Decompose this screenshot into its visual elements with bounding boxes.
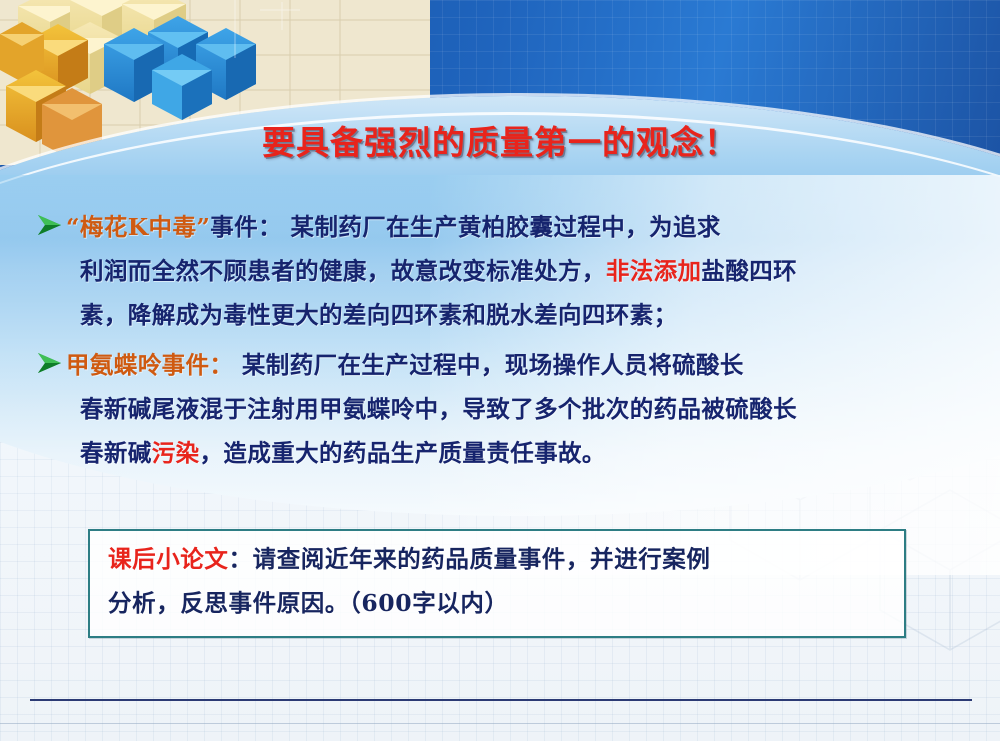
bullet-1-line-2-part-3: 盐酸四环: [701, 257, 797, 285]
bullet-item-1: “梅花K中毒”事件： 某制药厂在生产黄柏胶囊过程中，为追求 利润而全然不顾患者的…: [0, 205, 1000, 337]
bullet-2-line-3: 春新碱污染，造成重大的药品生产质量责任事故。: [66, 431, 1000, 475]
bullet-1-line-2-part-1: 利润而全然不顾患者的健康，故意改变标准处方，: [80, 257, 606, 285]
highlight-methotrexate-event: 甲氨蝶呤事件：: [66, 351, 233, 379]
slide-content: “梅花K中毒”事件： 某制药厂在生产黄柏胶囊过程中，为追求 利润而全然不顾患者的…: [0, 205, 1000, 481]
bullet-1-line-3: 素，降解成为毒性更大的差向四环素和脱水差向四环素；: [66, 293, 1000, 337]
presentation-slide: 要具备强烈的质量第一的观念！ “梅花K中毒”事件： 某制药厂在生产黄柏胶囊过程中…: [0, 0, 1000, 741]
green-arrow-bullet-icon: [36, 214, 62, 236]
note-line-1: 课后小论文：请查阅近年来的药品质量事件，并进行案例: [90, 531, 904, 581]
assignment-note-box: 课后小论文：请查阅近年来的药品质量事件，并进行案例 分析，反思事件原因。（600…: [88, 529, 906, 638]
green-arrow-bullet-icon: [36, 352, 62, 374]
bullet-1-line-3-text: 素，降解成为毒性更大的差向四环素和脱水差向四环素；: [80, 301, 678, 329]
highlight-assignment-label: 课后小论文: [108, 545, 229, 573]
highlight-meihua-k: “梅花K中毒”: [66, 213, 210, 241]
bottom-soft-divider: [0, 723, 1000, 724]
note-line-2: 分析，反思事件原因。（600字以内）: [90, 581, 904, 625]
slide-title: 要具备强烈的质量第一的观念！: [0, 116, 1000, 164]
highlight-contamination: 污染: [152, 439, 200, 467]
bottom-divider-line: [30, 699, 972, 701]
bullet-1-line-1-rest: 事件： 某制药厂在生产黄柏胶囊过程中，为追求: [210, 213, 720, 241]
note-line-2-text: 分析，反思事件原因。（600字以内）: [108, 589, 509, 617]
bullet-item-2: 甲氨蝶呤事件： 某制药厂在生产过程中，现场操作人员将硫酸长 春新碱尾液混于注射用…: [0, 343, 1000, 475]
bullet-2-line-1: 甲氨蝶呤事件： 某制药厂在生产过程中，现场操作人员将硫酸长: [66, 343, 1000, 387]
bullet-1-line-1: “梅花K中毒”事件： 某制药厂在生产黄柏胶囊过程中，为追求: [66, 205, 1000, 249]
bullet-1-line-2: 利润而全然不顾患者的健康，故意改变标准处方，非法添加盐酸四环: [66, 249, 1000, 293]
bullet-2-line-1-rest: 某制药厂在生产过程中，现场操作人员将硫酸长: [233, 351, 743, 379]
bullet-2-line-2-text: 春新碱尾液混于注射用甲氨蝶呤中，导致了多个批次的药品被硫酸长: [80, 395, 797, 423]
bullet-2-line-3-part-1: 春新碱: [80, 439, 152, 467]
note-line-1-rest: ：请查阅近年来的药品质量事件，并进行案例: [229, 545, 711, 573]
bullet-2-line-3-part-3: ，造成重大的药品生产质量责任事故。: [200, 439, 606, 467]
highlight-illegal-addition: 非法添加: [606, 257, 702, 285]
bullet-2-line-2: 春新碱尾液混于注射用甲氨蝶呤中，导致了多个批次的药品被硫酸长: [66, 387, 1000, 431]
